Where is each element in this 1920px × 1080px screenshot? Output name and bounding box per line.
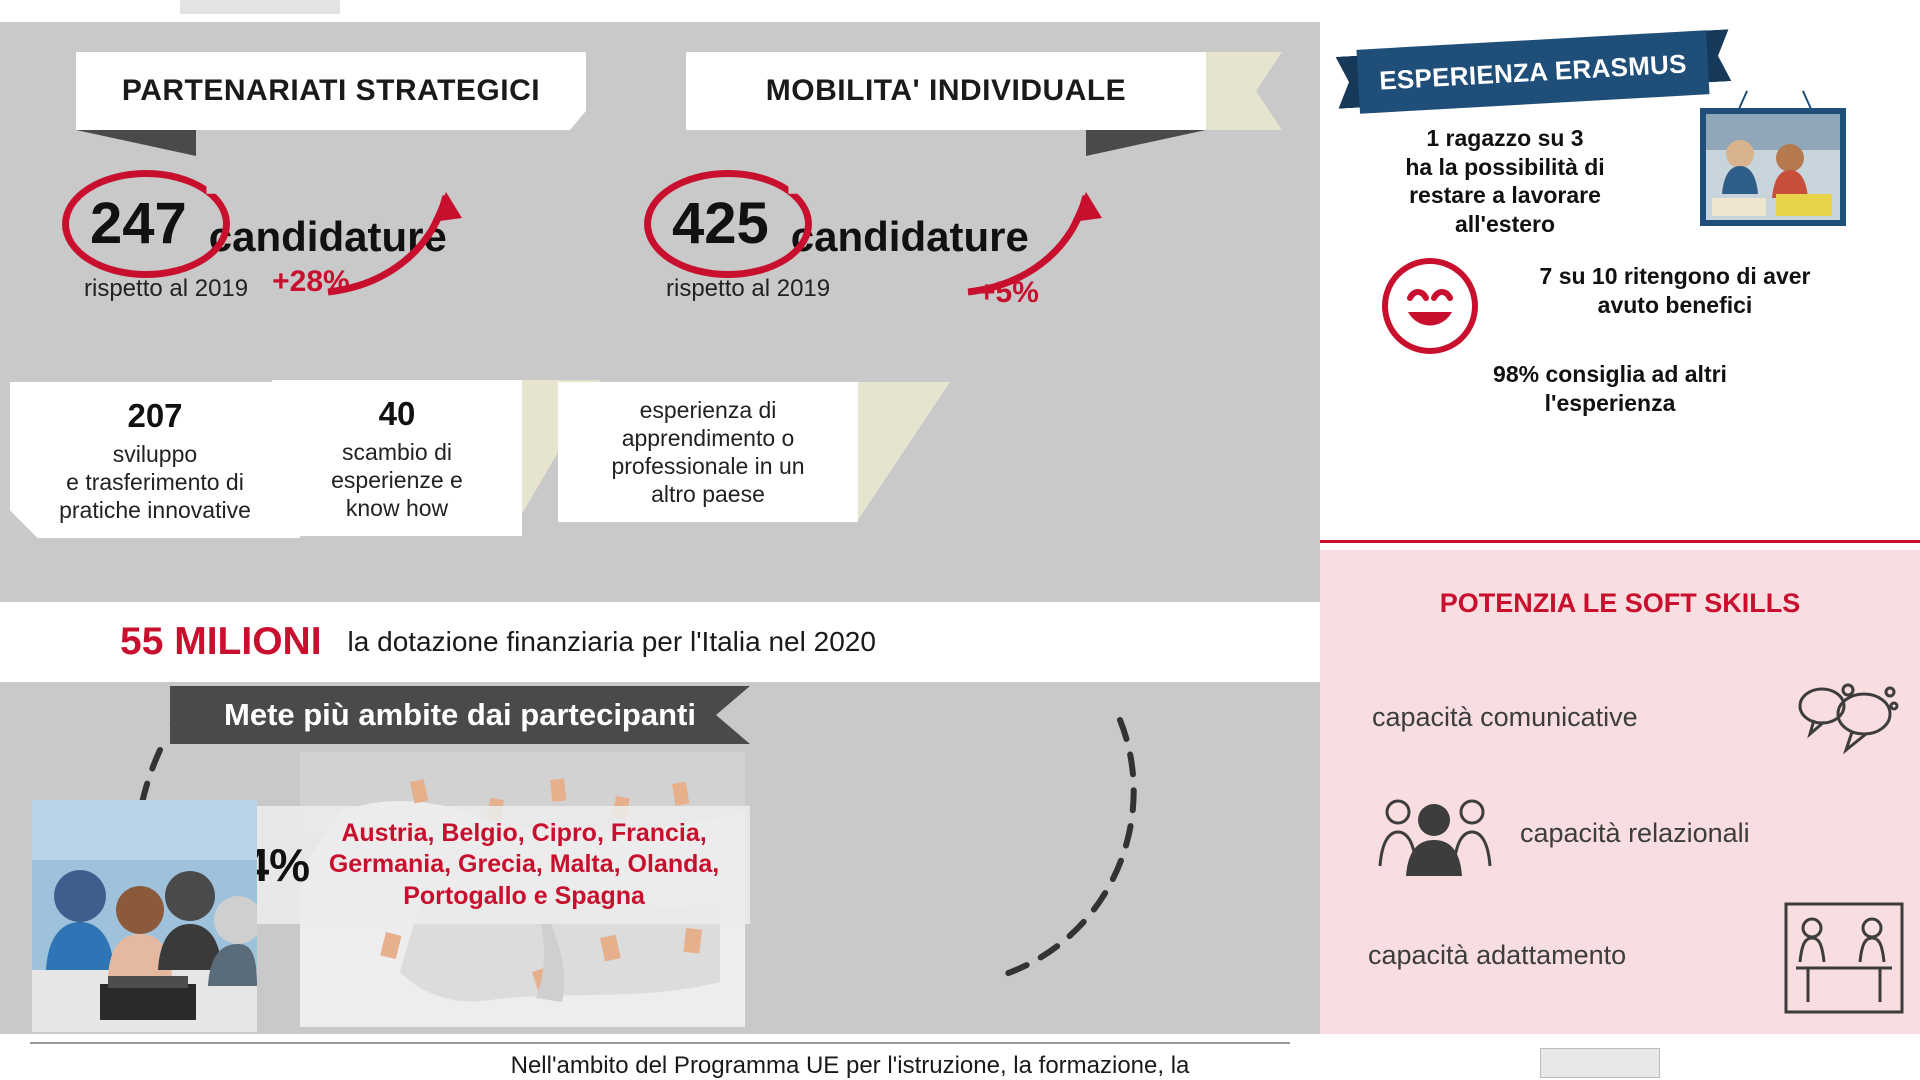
fact-7-su-10: 7 su 10 ritengono di aver avuto benefici	[1510, 262, 1840, 319]
smiley-glyph	[1388, 264, 1472, 348]
students-photo-graphic	[32, 800, 257, 1032]
card-scambio: 40 scambio di esperienze e know how	[272, 380, 522, 536]
card-text: esperienza di apprendimento o profession…	[611, 397, 804, 507]
funding-amount: 55 MILIONI	[120, 620, 322, 664]
ribbon-mete-ambite: Mete più ambite dai partecipanti	[170, 686, 750, 744]
footer-text: Nell'ambito del Programma UE per l'istru…	[500, 1052, 1200, 1080]
ribbon-label: PARTENARIATI STRATEGICI	[122, 74, 540, 108]
card-number: 40	[290, 394, 504, 434]
stat-number-wrapper: 247	[76, 186, 201, 261]
footer-divider	[30, 1042, 1290, 1044]
destinations-ribbon-label: Mete più ambite dai partecipanti	[224, 697, 696, 733]
soft-skill-relazionali: capacità relazionali	[1520, 818, 1750, 849]
soft-skills-title: POTENZIA LE SOFT SKILLS	[1320, 588, 1920, 619]
right-panel-divider	[1320, 540, 1920, 543]
stat-compare: rispetto al 2019	[84, 275, 248, 303]
people-group-icon	[1376, 790, 1496, 878]
card-esperienza: esperienza di apprendimento o profession…	[558, 382, 858, 522]
desk-people-icon	[1782, 898, 1906, 1018]
stat-number-wrapper: 425	[658, 186, 783, 261]
ribbon-mobilita-individuale: MOBILITA' INDIVIDUALE	[686, 52, 1206, 130]
fact-98-percento: 98% consiglia ad altri l'esperienza	[1400, 360, 1820, 417]
curved-up-arrow-icon	[320, 170, 470, 300]
framed-photo-graphic	[1706, 114, 1840, 220]
erasmus-students-framed-photo	[1700, 108, 1846, 226]
card-number: 207	[28, 396, 282, 436]
curved-up-arrow-icon	[960, 170, 1110, 300]
destinations-overlay: 64% Austria, Belgio, Cipro, Francia, Ger…	[190, 806, 750, 924]
funding-row: 55 MILIONI la dotazione finanziaria per …	[0, 602, 1320, 682]
red-oval-outline	[62, 170, 230, 278]
card-text: sviluppo e trasferimento di pratiche inn…	[59, 441, 251, 523]
ribbon-label: MOBILITA' INDIVIDUALE	[766, 74, 1126, 108]
soft-skill-comunicative: capacità comunicative	[1372, 702, 1638, 733]
red-oval-outline	[644, 170, 812, 278]
banner-label: ESPERIENZA ERASMUS	[1378, 48, 1687, 96]
ribbon-partenariati-strategici: PARTENARIATI STRATEGICI	[76, 52, 586, 130]
top-decorative-strip	[180, 0, 340, 14]
destinations-countries: Austria, Belgio, Cipro, Francia, Germani…	[310, 818, 750, 913]
soft-skill-adattamento: capacità adattamento	[1368, 940, 1626, 971]
stat-compare: rispetto al 2019	[666, 275, 830, 303]
card-text: scambio di esperienze e know how	[331, 439, 463, 521]
speech-bubbles-icon	[1790, 680, 1900, 760]
card-sviluppo: 207 sviluppo e trasferimento di pratiche…	[10, 382, 300, 538]
students-photo	[32, 800, 257, 1032]
funding-description: la dotazione finanziaria per l'Italia ne…	[348, 626, 876, 658]
fact-ragazzo-su-3: 1 ragazzo su 3 ha la possibilità di rest…	[1380, 124, 1630, 238]
footer-logo	[1540, 1048, 1660, 1078]
smiley-face-icon	[1382, 258, 1478, 354]
